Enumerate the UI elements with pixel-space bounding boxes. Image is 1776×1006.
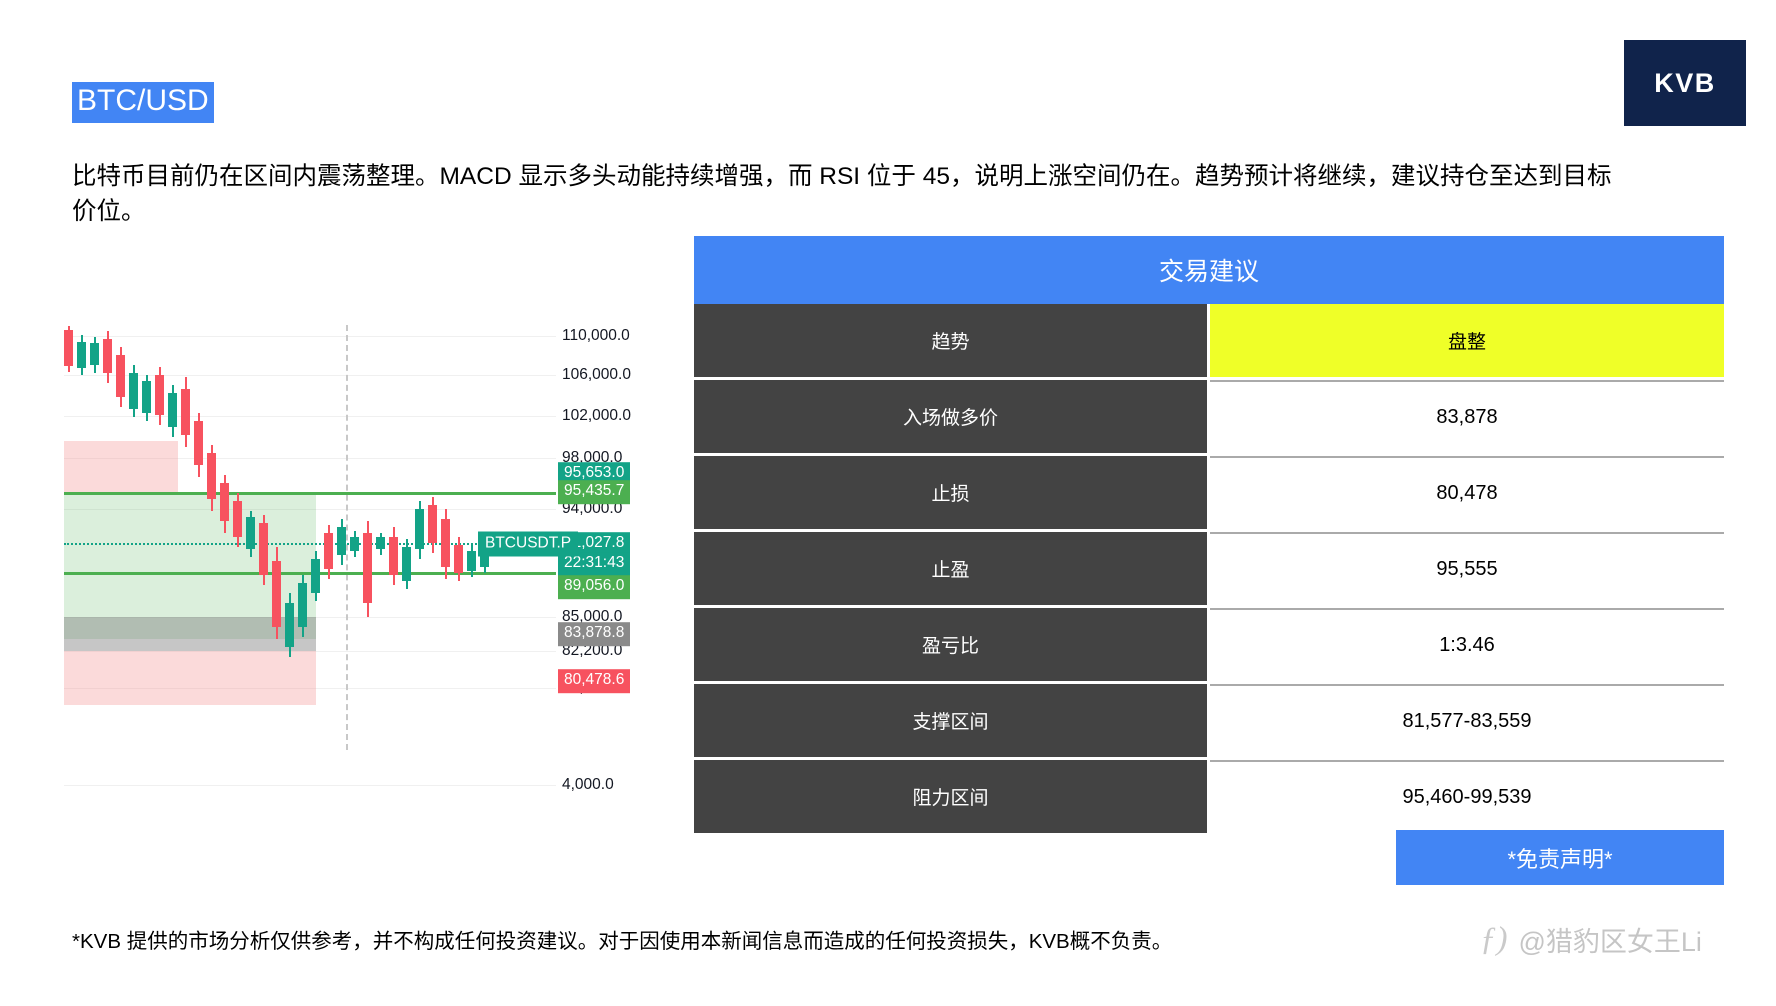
row-value: 盘整 [1210,304,1724,377]
row-value: 1:3.46 [1210,608,1724,681]
table-row: 盈亏比 1:3.46 [694,608,1724,681]
table-header: 交易建议 [694,236,1724,304]
axis-tick: 110,000.0 [562,327,630,345]
row-label: 止盈 [694,532,1207,605]
page-title-wrap: BTC/USD [72,82,214,123]
table-row: 阻力区间 95,460-99,539 [694,760,1724,833]
resistance-zone [64,441,178,495]
symbol-tag: BTCUSDT.P [478,532,578,557]
gridline [64,416,556,417]
row-value: 95,460-99,539 [1210,760,1724,833]
row-value: 81,577-83,559 [1210,684,1724,757]
gridline [64,336,556,337]
entry-zone-price-tag: 83,878.8 [558,622,630,646]
row-value: 80,478 [1210,456,1724,529]
slide-root: KVB BTC/USD 比特币目前仍在区间内震荡整理。MACD 显示多头动能持续… [0,0,1776,1006]
table-row: 趋势 盘整 [694,304,1724,377]
trade-recommendation-table: 交易建议 趋势 盘整 入场做多价 83,878 止损 80,478 止盈 95,… [694,236,1724,833]
row-value: 83,878 [1210,380,1724,453]
table-row: 支撑区间 81,577-83,559 [694,684,1724,757]
take-profit-price-tag: 95,435.7 [558,480,630,504]
price-chart[interactable]: 110,000.0 106,000.0 102,000.0 98,000.0 9… [46,325,666,820]
entry-line [64,572,556,575]
axis-tick: 102,000.0 [562,407,631,425]
row-value: 95,555 [1210,532,1724,605]
table-row: 止损 80,478 [694,456,1724,529]
row-label: 止损 [694,456,1207,529]
take-profit-line [64,492,556,495]
footer-disclaimer: *KVB 提供的市场分析仅供参考，并不构成任何投资建议。对于因使用本新闻信息而造… [72,924,1172,954]
row-label: 入场做多价 [694,380,1207,453]
axis-tick: 106,000.0 [562,366,631,384]
row-label: 盈亏比 [694,608,1207,681]
axis-tick: 4,000.0 [562,776,614,794]
kvb-logo-text: KVB [1654,68,1716,99]
watermark-handle: @猎豹区女王Li [1519,920,1702,959]
watermark: ƒ) @猎豹区女王Li [1480,920,1702,959]
stop-loss-price-tag: 80,478.6 [558,669,630,693]
kvb-logo: KVB [1624,40,1746,126]
row-label: 支撑区间 [694,684,1207,757]
watermark-logo-icon: ƒ) [1480,921,1508,958]
time-separator [346,325,348,750]
table-row: 入场做多价 83,878 [694,380,1724,453]
table-row: 止盈 95,555 [694,532,1724,605]
analysis-paragraph: 比特币目前仍在区间内震荡整理。MACD 显示多头动能持续增强，而 RSI 位于 … [72,160,1624,230]
row-label: 趋势 [694,304,1207,377]
row-label: 阻力区间 [694,760,1207,833]
disclaimer-button[interactable]: *免责声明* [1396,830,1724,885]
gridline [64,785,556,786]
stop-zone [64,651,316,705]
entry-price-tag: 89,056.0 [558,575,630,599]
page-title: BTC/USD [72,82,214,123]
